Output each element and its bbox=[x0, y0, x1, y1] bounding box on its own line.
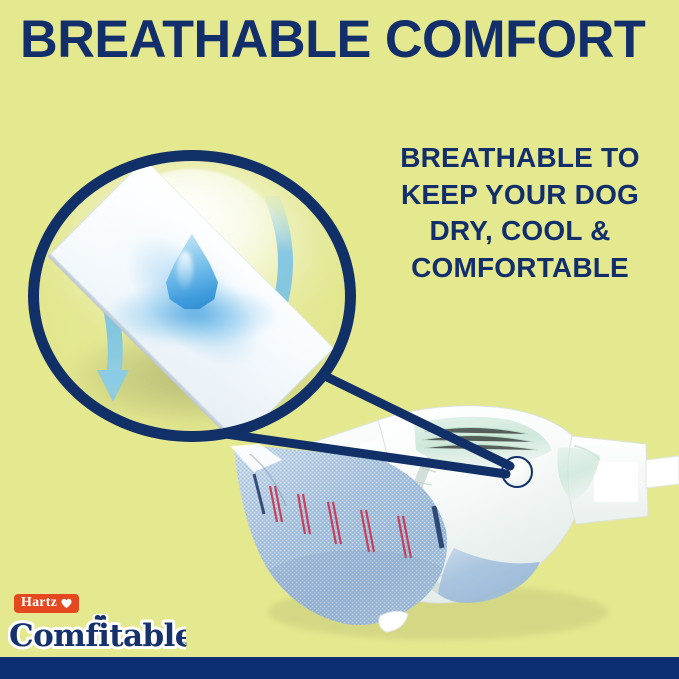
heart-icon bbox=[61, 598, 72, 609]
brand-logo: Hartz Comfitables Comfitables ® bbox=[8, 594, 193, 656]
hartz-wordmark: Hartz bbox=[21, 596, 57, 610]
comfitables-wordmark-wrap: Comfitables Comfitables ® bbox=[8, 614, 193, 654]
registered-trademark: ® bbox=[182, 642, 187, 649]
marketing-image: BREATHABLE COMFORT BREATHABLE TO KEEP YO… bbox=[0, 0, 679, 679]
hartz-badge: Hartz bbox=[14, 594, 79, 613]
comfitables-wordmark: Comfitables Comfitables bbox=[8, 614, 186, 654]
magnifier-lens bbox=[28, 150, 356, 442]
footer-bar bbox=[0, 657, 679, 679]
svg-text:Comfitables: Comfitables bbox=[9, 618, 186, 654]
magnifier-illustration bbox=[28, 150, 356, 442]
droplet-highlight bbox=[177, 251, 193, 291]
